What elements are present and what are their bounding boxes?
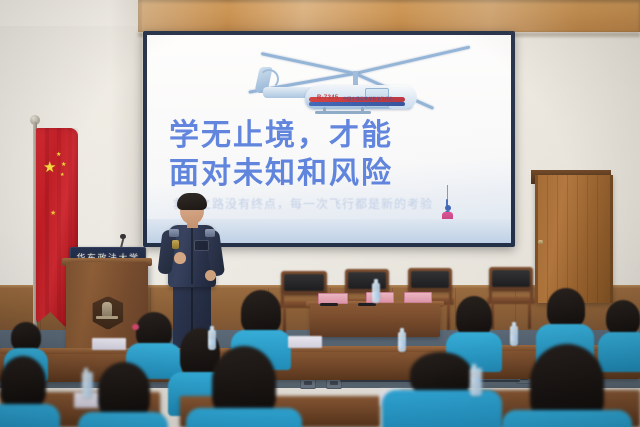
table-microphone bbox=[320, 303, 338, 306]
slide-title: 学无止境，才能 面对未知和风险 bbox=[169, 117, 489, 193]
name-card bbox=[366, 292, 394, 303]
shoulder-patch bbox=[205, 229, 215, 237]
seated-attendee bbox=[84, 362, 162, 427]
university-crest-icon bbox=[92, 296, 122, 328]
seated-attendee bbox=[0, 356, 56, 427]
door-handle[interactable] bbox=[538, 240, 543, 244]
table-microphone bbox=[358, 303, 376, 306]
hand bbox=[205, 270, 216, 281]
panel-table bbox=[310, 305, 440, 337]
gesturing-hand bbox=[174, 252, 186, 264]
side-door[interactable] bbox=[535, 175, 613, 303]
handout-paper bbox=[92, 338, 126, 350]
podium-microphone bbox=[120, 234, 126, 239]
seated-attendee bbox=[232, 290, 290, 342]
helicopter-operator-text: 中国交通运输部救助飞行队 bbox=[343, 96, 393, 102]
handout-paper bbox=[288, 336, 322, 348]
water-bottle bbox=[470, 368, 482, 396]
chest-badge bbox=[172, 240, 179, 249]
name-card bbox=[404, 292, 432, 303]
helicopter-registration: B-7345 bbox=[317, 95, 338, 101]
seated-attendee bbox=[600, 300, 640, 346]
water-bottle bbox=[398, 332, 406, 352]
seated-attendee bbox=[538, 288, 592, 338]
seated-attendee bbox=[448, 296, 500, 344]
water-bottle bbox=[372, 283, 380, 303]
seated-attendee bbox=[196, 346, 292, 427]
hair-tie bbox=[132, 324, 139, 330]
shoulder-patch bbox=[169, 229, 179, 237]
ceiling-beam bbox=[138, 0, 640, 32]
seated-attendee bbox=[512, 344, 622, 427]
slide-title-line-2: 面对未知和风险 bbox=[169, 155, 489, 193]
lecture-hall-photo: B-7345 中国交通运输部救助飞行队 学无止境，才能 面对未知和风险 救援之路 bbox=[0, 0, 640, 427]
chest-pocket bbox=[194, 240, 209, 251]
slide-title-line-1: 学无止境，才能 bbox=[169, 117, 489, 155]
water-bottle bbox=[82, 372, 93, 398]
water-bottle bbox=[510, 326, 518, 346]
